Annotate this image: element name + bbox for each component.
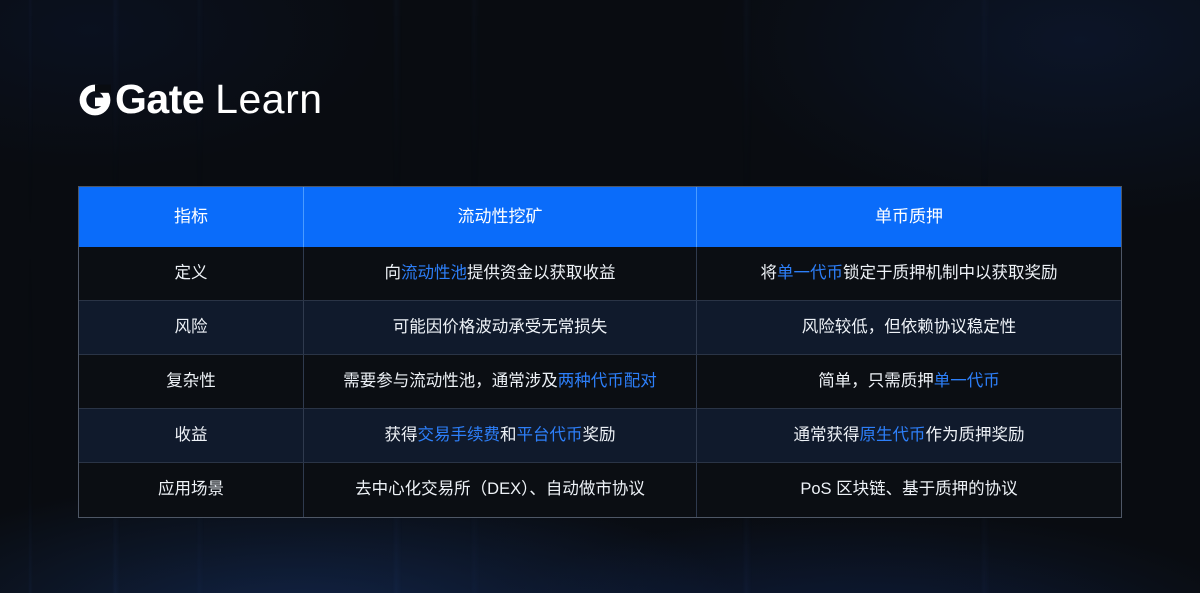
cell-single-token-staking-text: 简单，只需质押: [818, 370, 934, 393]
cell-single-token-staking-text: 将: [761, 262, 778, 285]
cell-liquidity-mining-highlight: 两种代币配对: [558, 370, 657, 393]
cell-single-token-staking: 风险较低，但依赖协议稳定性: [696, 301, 1121, 354]
cell-liquidity-mining: 需要参与流动性池，通常涉及两种代币配对: [303, 355, 696, 408]
table-row: 风险可能因价格波动承受无常损失风险较低，但依赖协议稳定性: [79, 300, 1121, 354]
cell-liquidity-mining-text: 和: [500, 424, 517, 447]
cell-liquidity-mining-text: 奖励: [583, 424, 616, 447]
comparison-table: 指标 流动性挖矿 单币质押 定义向流动性池提供资金以获取收益将单一代币锁定于质押…: [78, 186, 1122, 518]
cell-single-token-staking-text: 作为质押奖励: [926, 424, 1025, 447]
cell-liquidity-mining-highlight: 交易手续费: [418, 424, 501, 447]
cell-liquidity-mining-text: 可能因价格波动承受无常损失: [393, 316, 608, 339]
cell-single-token-staking: PoS 区块链、基于质押的协议: [696, 463, 1121, 517]
cell-liquidity-mining: 去中心化交易所（DEX）、自动做市协议: [303, 463, 696, 517]
cell-liquidity-mining-highlight: 流动性池: [401, 262, 467, 285]
cell-liquidity-mining-text: 去中心化交易所（DEX）、自动做市协议: [355, 478, 645, 501]
table-body: 定义向流动性池提供资金以获取收益将单一代币锁定于质押机制中以获取奖励风险可能因价…: [79, 247, 1121, 517]
cell-single-token-staking-text: 风险较低，但依赖协议稳定性: [802, 316, 1017, 339]
cell-liquidity-mining-highlight: 平台代币: [517, 424, 583, 447]
column-header-single-token-staking: 单币质押: [696, 187, 1121, 247]
cell-metric: 应用场景: [79, 463, 303, 517]
cell-single-token-staking: 通常获得原生代币作为质押奖励: [696, 409, 1121, 462]
cell-liquidity-mining: 可能因价格波动承受无常损失: [303, 301, 696, 354]
cell-liquidity-mining-text: 提供资金以获取收益: [467, 262, 616, 285]
cell-liquidity-mining-text: 需要参与流动性池，通常涉及: [343, 370, 558, 393]
cell-single-token-staking-text: PoS 区块链、基于质押的协议: [800, 478, 1017, 501]
gate-logo-mark-icon: [78, 83, 112, 117]
column-header-metric: 指标: [79, 187, 303, 247]
cell-metric: 定义: [79, 247, 303, 300]
cell-single-token-staking-text: 通常获得: [794, 424, 860, 447]
brand-name: Gate: [115, 76, 204, 122]
cell-single-token-staking-highlight: 单一代币: [934, 370, 1000, 393]
brand-product: Learn: [215, 76, 322, 122]
cell-liquidity-mining-text: 向: [385, 262, 402, 285]
cell-liquidity-mining: 向流动性池提供资金以获取收益: [303, 247, 696, 300]
table-row: 定义向流动性池提供资金以获取收益将单一代币锁定于质押机制中以获取奖励: [79, 247, 1121, 300]
brand-wordmark: GateLearn: [115, 77, 323, 121]
cell-single-token-staking-text: 锁定于质押机制中以获取奖励: [843, 262, 1058, 285]
cell-liquidity-mining: 获得交易手续费和平台代币奖励: [303, 409, 696, 462]
table-row: 应用场景去中心化交易所（DEX）、自动做市协议PoS 区块链、基于质押的协议: [79, 462, 1121, 517]
table-row: 复杂性需要参与流动性池，通常涉及两种代币配对简单，只需质押单一代币: [79, 354, 1121, 408]
cell-metric: 收益: [79, 409, 303, 462]
column-header-liquidity-mining: 流动性挖矿: [303, 187, 696, 247]
cell-metric: 风险: [79, 301, 303, 354]
cell-liquidity-mining-text: 获得: [385, 424, 418, 447]
cell-single-token-staking-highlight: 原生代币: [860, 424, 926, 447]
cell-single-token-staking: 简单，只需质押单一代币: [696, 355, 1121, 408]
table-header-row: 指标 流动性挖矿 单币质押: [79, 187, 1121, 247]
cell-single-token-staking: 将单一代币锁定于质押机制中以获取奖励: [696, 247, 1121, 300]
cell-metric: 复杂性: [79, 355, 303, 408]
brand-logo: GateLearn: [78, 75, 323, 123]
cell-single-token-staking-highlight: 单一代币: [777, 262, 843, 285]
table-row: 收益获得交易手续费和平台代币奖励通常获得原生代币作为质押奖励: [79, 408, 1121, 462]
slide-canvas: GateLearn 指标 流动性挖矿 单币质押 定义向流动性池提供资金以获取收益…: [0, 0, 1200, 593]
